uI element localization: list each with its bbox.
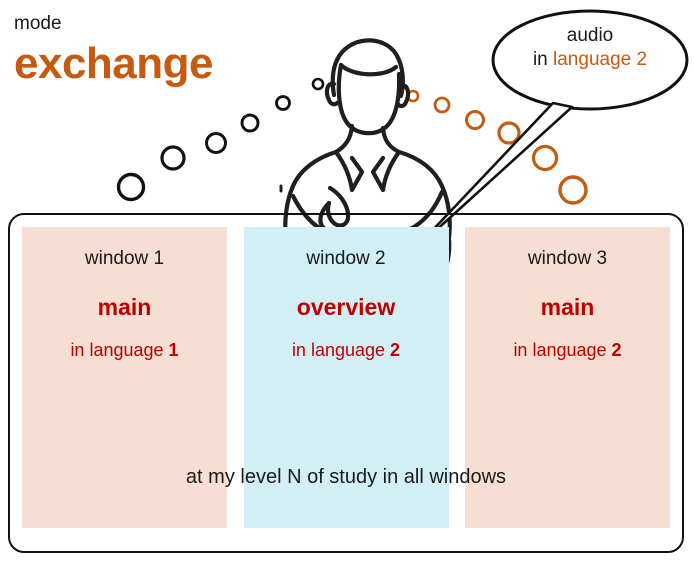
board-note: at my level N of study in all windows <box>8 467 684 487</box>
bubble-line-1: audio <box>505 24 675 48</box>
audio-bubble-text: audio in language 2 <box>505 24 675 73</box>
orange-circle-arc-icon <box>408 91 586 203</box>
mode-label: mode <box>14 14 62 33</box>
bubble-line-2-highlight: language 2 <box>553 49 647 70</box>
panel-3-language: in language 2 <box>465 341 670 359</box>
mode-title: exchange <box>14 42 213 86</box>
panel-1-title: window 1 <box>22 249 227 268</box>
bubble-line-2: in language 2 <box>505 48 675 72</box>
panel-3-kind: main <box>465 296 670 319</box>
bubble-line-2-prefix: in <box>533 49 553 70</box>
panel-1-language-prefix: in language <box>70 340 168 360</box>
panel-2-title: window 2 <box>244 249 449 268</box>
panel-2-language-prefix: in language <box>292 340 390 360</box>
black-circle-arc-icon <box>119 79 324 200</box>
panel-1-language-value: 1 <box>169 340 179 360</box>
panel-2-language-value: 2 <box>390 340 400 360</box>
panel-2-kind: overview <box>244 296 449 319</box>
panel-1-kind: main <box>22 296 227 319</box>
panel-3-title: window 3 <box>465 249 670 268</box>
panel-2-language: in language 2 <box>244 341 449 359</box>
panel-1-language: in language 1 <box>22 341 227 359</box>
panel-3-language-value: 2 <box>612 340 622 360</box>
panel-3-language-prefix: in language <box>513 340 611 360</box>
diagram-canvas: mode exchange <box>0 0 694 564</box>
